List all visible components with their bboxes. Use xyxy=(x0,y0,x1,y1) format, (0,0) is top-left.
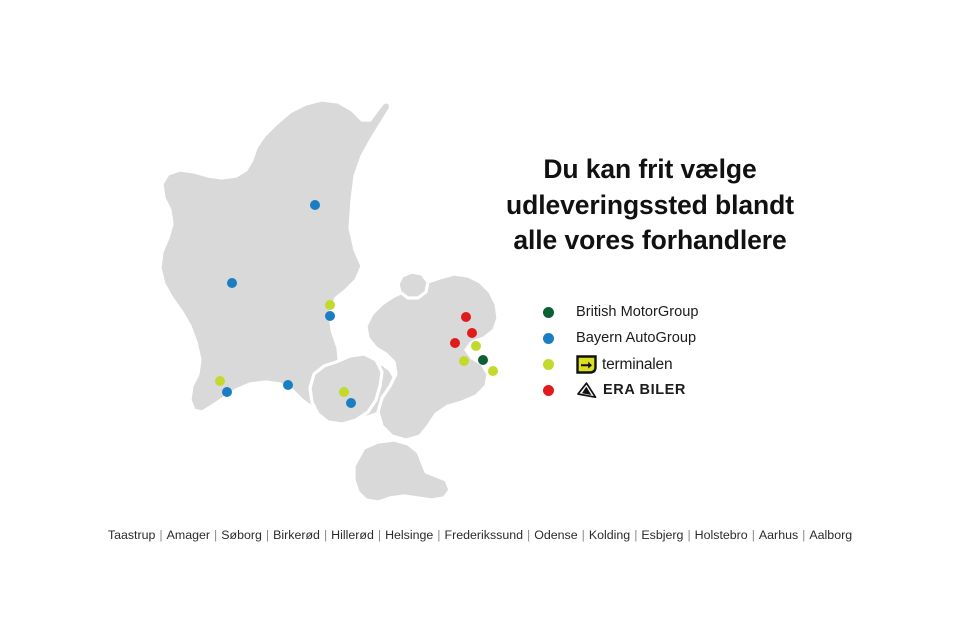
city-separator: | xyxy=(211,528,220,542)
dealer-dot[interactable] xyxy=(227,278,237,288)
headline-line-3: alle vores forhandlere xyxy=(440,223,860,259)
legend-label-era-biler: ERA BILER xyxy=(576,382,686,399)
city-item: Aalborg xyxy=(808,528,853,542)
city-item: Hillerød xyxy=(330,528,375,542)
page-title: Du kan frit vælge udleveringssted blandt… xyxy=(440,152,860,259)
city-separator: | xyxy=(375,528,384,542)
city-separator: | xyxy=(579,528,588,542)
city-item: Helsinge xyxy=(384,528,434,542)
city-separator: | xyxy=(263,528,272,542)
legend-item-terminalen[interactable]: terminalen xyxy=(543,352,843,377)
dealer-dot[interactable] xyxy=(325,311,335,321)
landmass-lolland-falster xyxy=(354,440,450,502)
city-separator: | xyxy=(434,528,443,542)
legend-item-bayern-autogroup[interactable]: Bayern AutoGroup xyxy=(543,326,843,351)
dealer-dot[interactable] xyxy=(461,312,471,322)
dealer-dot[interactable] xyxy=(325,300,335,310)
legend-swatch-yellow xyxy=(543,359,554,370)
era-biler-logo-icon xyxy=(576,382,598,399)
terminalen-logo-icon xyxy=(576,355,597,374)
legend-label-bayern-autogroup: Bayern AutoGroup xyxy=(576,331,696,346)
headline-line-2: udleveringssted blandt xyxy=(440,188,860,224)
city-item: Aarhus xyxy=(758,528,799,542)
legend-label-terminalen: terminalen xyxy=(576,355,672,374)
city-item: Odense xyxy=(533,528,578,542)
city-separator: | xyxy=(524,528,533,542)
brand-legend: British MotorGroup Bayern AutoGroup term… xyxy=(543,300,843,404)
dealer-dot[interactable] xyxy=(346,398,356,408)
dealer-dot[interactable] xyxy=(478,355,488,365)
city-separator: | xyxy=(749,528,758,542)
dealer-dot[interactable] xyxy=(450,338,460,348)
city-item: Amager xyxy=(166,528,211,542)
dealer-dot[interactable] xyxy=(488,366,498,376)
city-list: Taastrup|Amager|Søborg|Birkerød|Hillerød… xyxy=(0,528,960,542)
landmass-small-island xyxy=(398,272,428,298)
denmark-map xyxy=(150,80,530,510)
legend-swatch-green xyxy=(543,307,554,318)
dealer-dot[interactable] xyxy=(459,356,469,366)
city-item: Birkerød xyxy=(272,528,321,542)
city-item: Søborg xyxy=(220,528,263,542)
dealer-dot[interactable] xyxy=(215,376,225,386)
poster-canvas: Du kan frit vælge udleveringssted blandt… xyxy=(0,0,960,640)
dealer-dot[interactable] xyxy=(467,328,477,338)
dealer-dot[interactable] xyxy=(222,387,232,397)
city-separator: | xyxy=(156,528,165,542)
city-item: Taastrup xyxy=(107,528,157,542)
legend-label-british-motorgroup: British MotorGroup xyxy=(576,305,698,320)
city-item: Frederikssund xyxy=(444,528,525,542)
city-separator: | xyxy=(684,528,693,542)
headline-line-1: Du kan frit vælge xyxy=(440,152,860,188)
legend-swatch-red xyxy=(543,385,554,396)
legend-swatch-blue xyxy=(543,333,554,344)
city-item: Kolding xyxy=(588,528,631,542)
legend-item-british-motorgroup[interactable]: British MotorGroup xyxy=(543,300,843,325)
city-item: Holstebro xyxy=(694,528,749,542)
dealer-dot[interactable] xyxy=(339,387,349,397)
legend-item-era-biler[interactable]: ERA BILER xyxy=(543,378,843,403)
map-svg xyxy=(150,80,530,510)
dealer-dot[interactable] xyxy=(283,380,293,390)
city-separator: | xyxy=(321,528,330,542)
city-separator: | xyxy=(799,528,808,542)
city-item: Esbjerg xyxy=(640,528,684,542)
dealer-dot[interactable] xyxy=(310,200,320,210)
dealer-dot[interactable] xyxy=(471,341,481,351)
